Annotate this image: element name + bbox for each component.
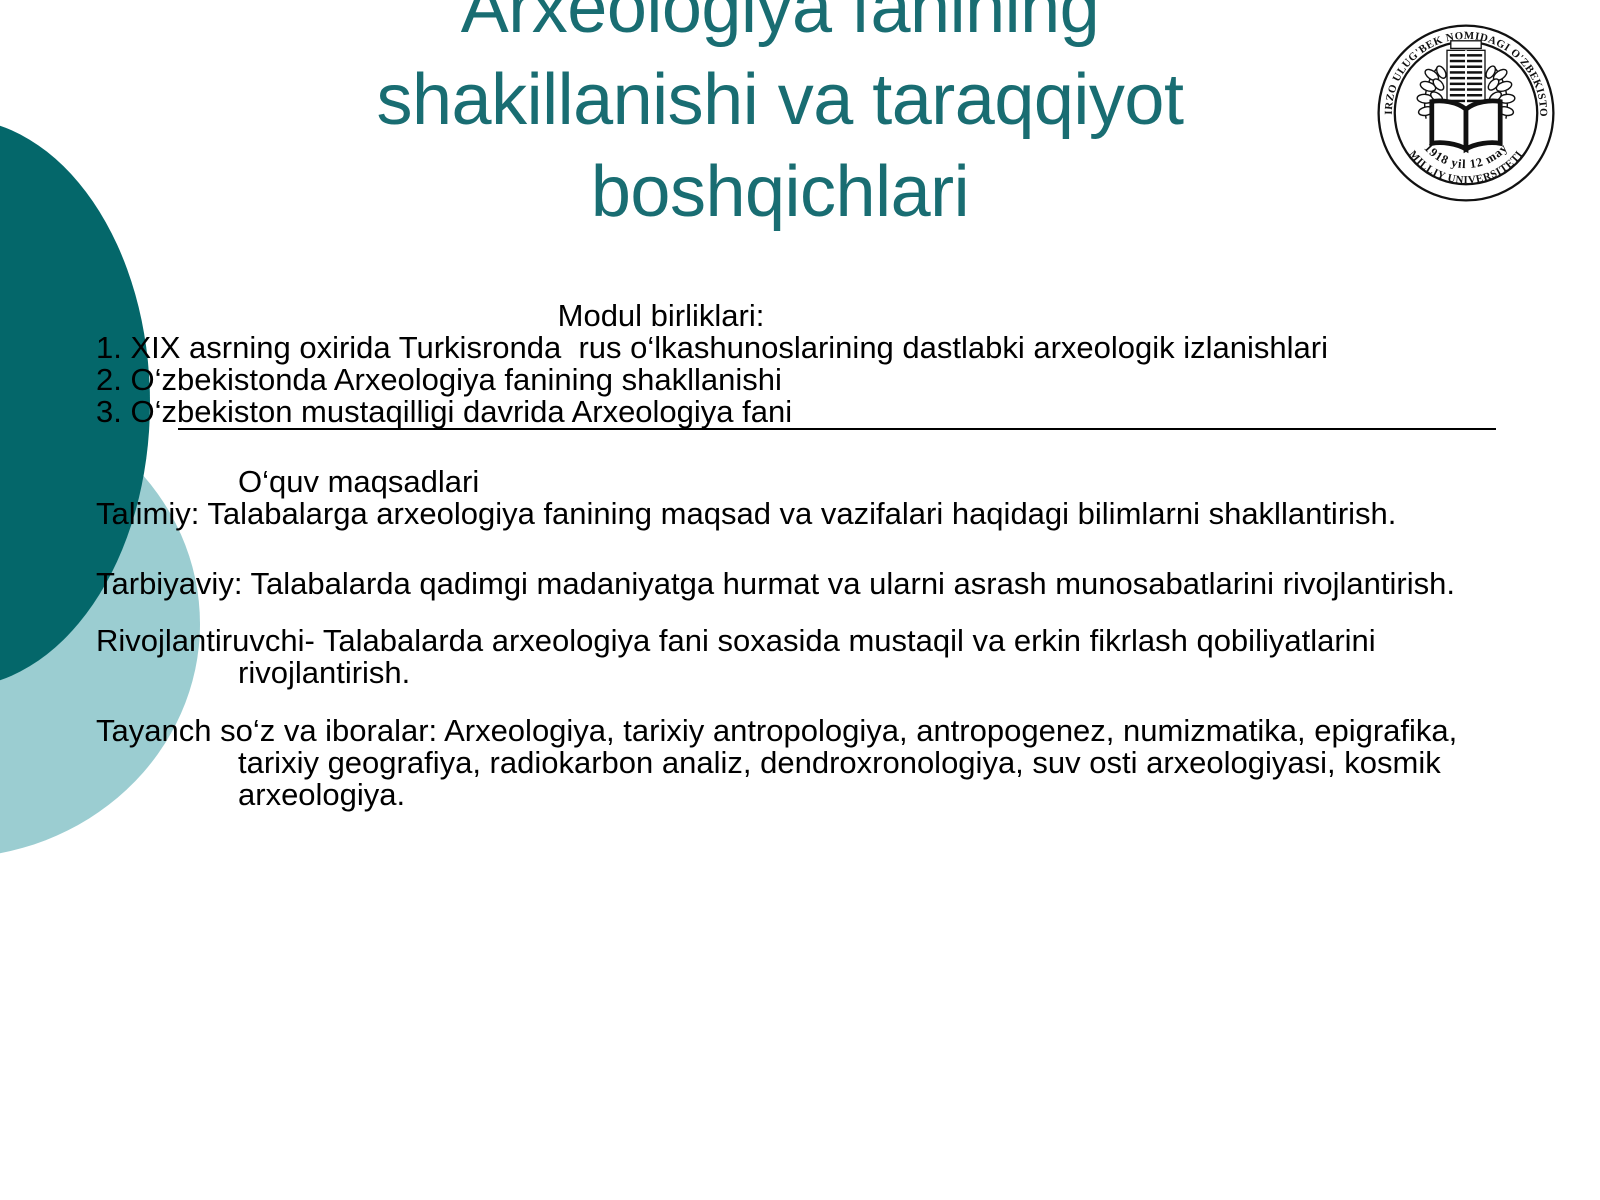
- objective-talimiy: Talimiy: Talabalarga arxeologiya faninin…: [96, 498, 1516, 530]
- spacer: [96, 689, 1516, 715]
- presentation-slide: MIRZO ULUG'BEK NOMIDAGI O'ZBEKISTON MILL…: [0, 0, 1600, 1200]
- horizontal-rule-line: [178, 428, 1496, 430]
- university-seal-logo: MIRZO ULUG'BEK NOMIDAGI O'ZBEKISTON MILL…: [1371, 18, 1561, 208]
- module-unit-item-1: 1. XIX asrning oxirida Turkisronda rus o…: [96, 332, 1516, 364]
- tayanch-sozlar-keywords: Tayanch so‘z va iboralar: Arxeologiya, t…: [96, 715, 1516, 811]
- oquv-maqsadlari-heading: O‘quv maqsadlari: [96, 466, 1516, 498]
- spacer: [96, 428, 1516, 466]
- page-title: Arxeologiya fanining shakillanishi va ta…: [200, 0, 1360, 238]
- module-unit-item-2: 2. O‘zbekistonda Arxeologiya fanining sh…: [96, 364, 1516, 396]
- objective-tarbiyaviy: Tarbiyaviy: Talabalarda qadimgi madaniya…: [96, 568, 1516, 600]
- module-unit-item-3: 3. O‘zbekiston mustaqilligi davrida Arxe…: [96, 396, 1516, 428]
- spacer: [96, 599, 1516, 625]
- spacer: [96, 530, 1516, 568]
- objective-rivojlantiruvchi: Rivojlantiruvchi- Talabalarda arxeologiy…: [96, 625, 1516, 689]
- slide-body: Modul birliklari: 1. XIX asrning oxirida…: [96, 300, 1516, 811]
- modul-birliklari-heading: Modul birliklari:: [96, 300, 1516, 332]
